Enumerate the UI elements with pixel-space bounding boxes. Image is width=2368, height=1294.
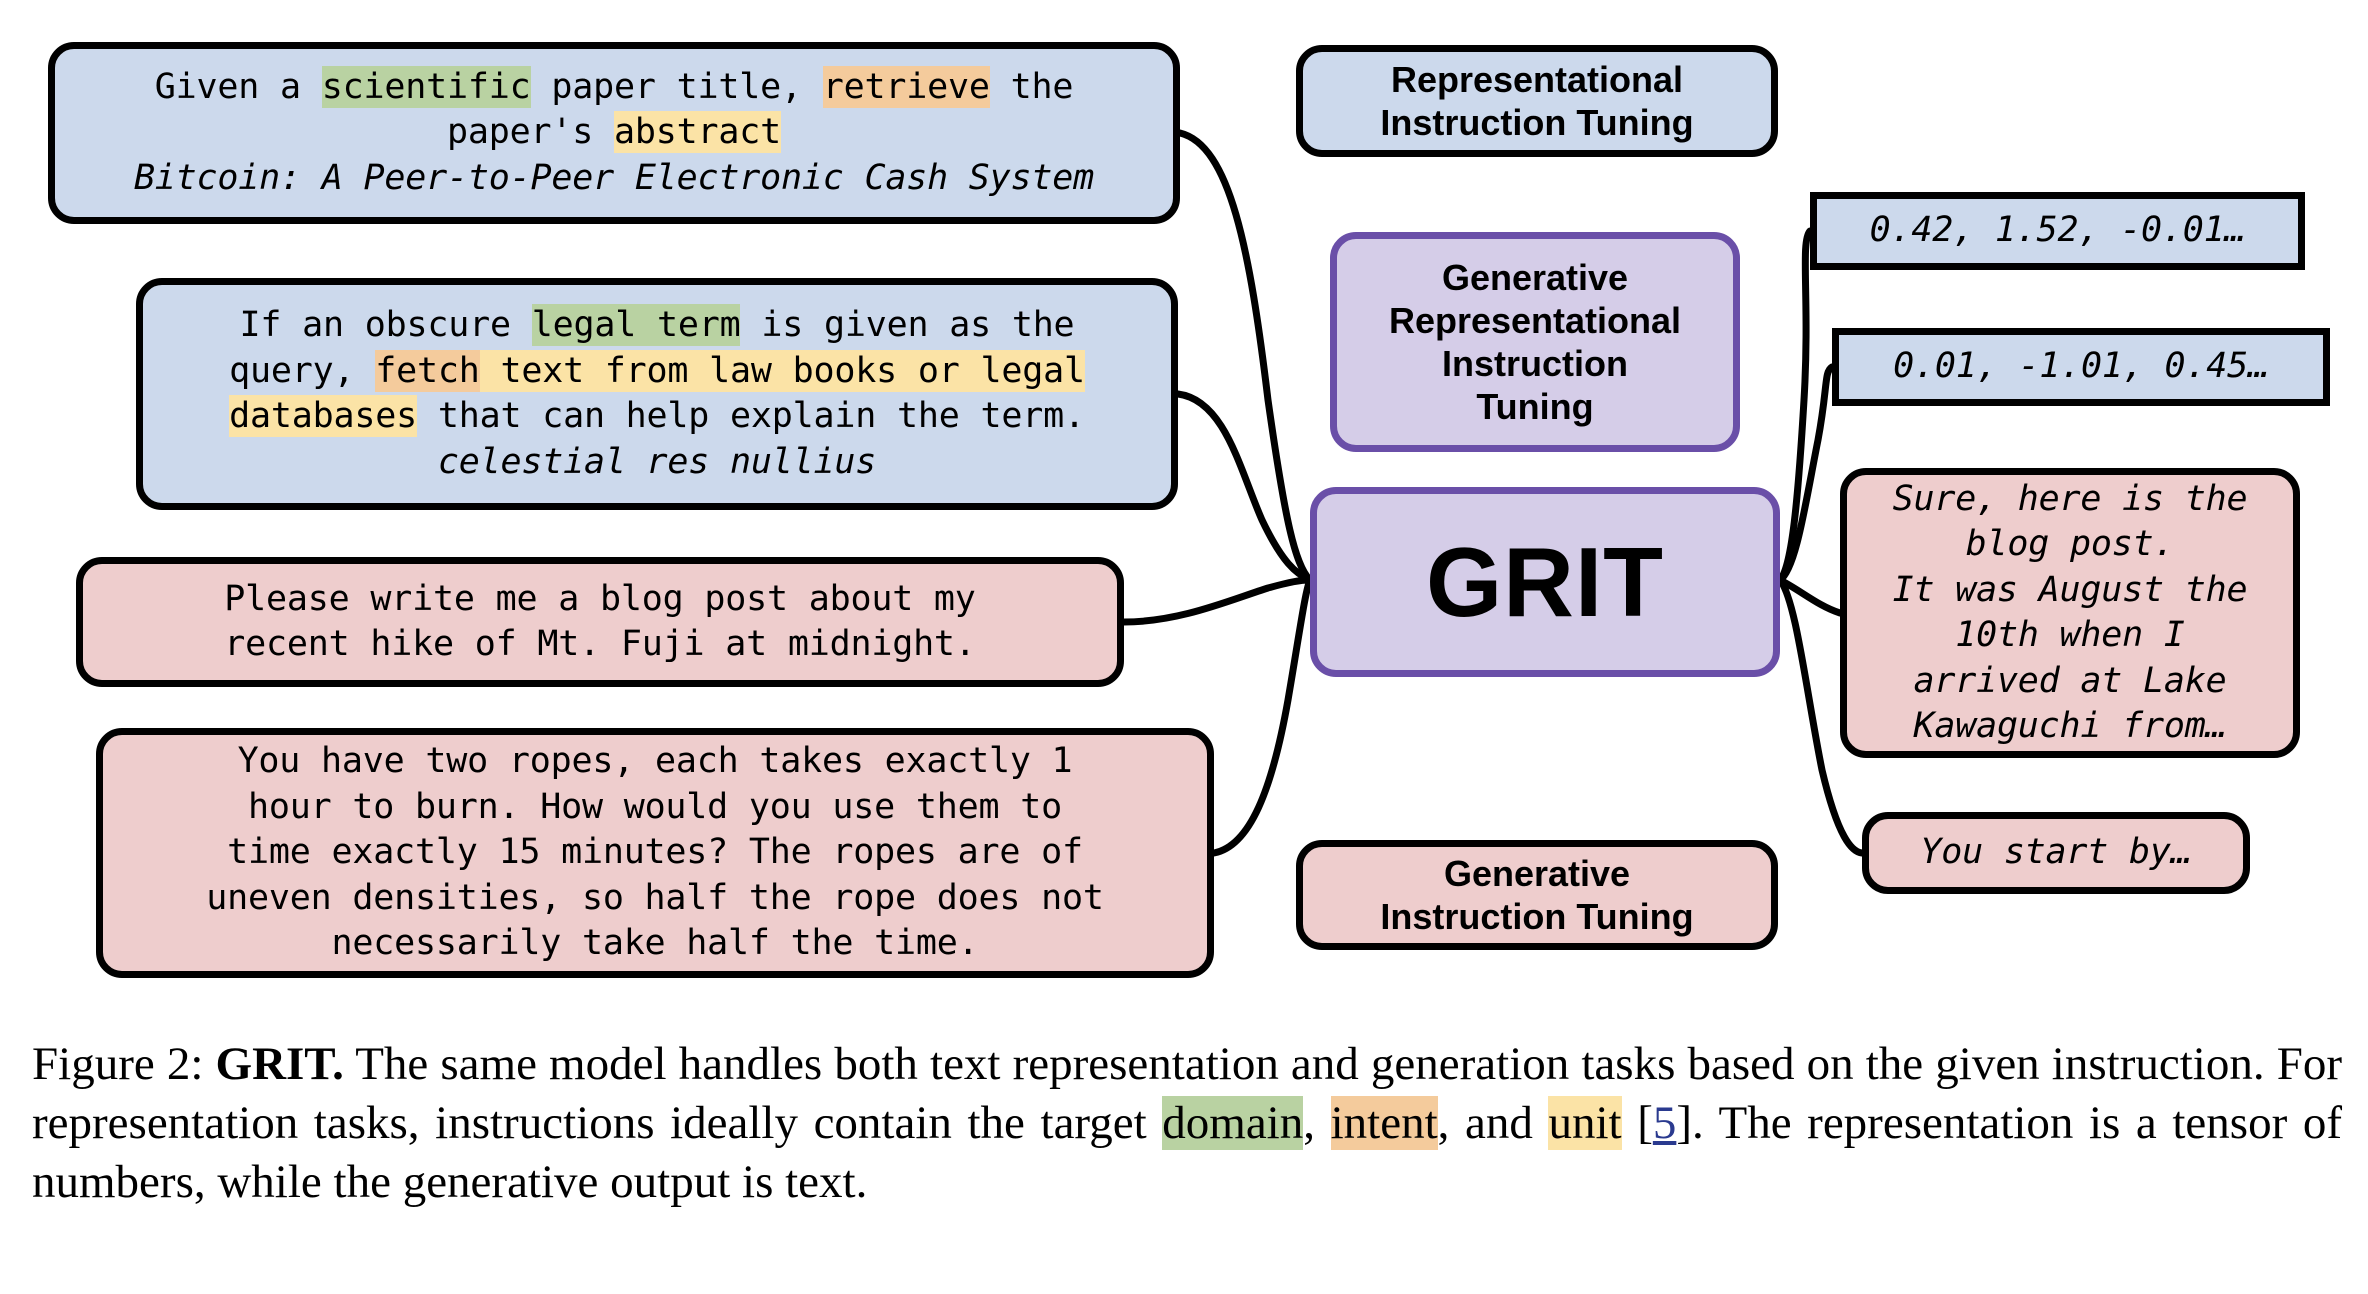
- unit-highlight: text from law books or legal: [480, 350, 1085, 392]
- query-text: celestial res nullius: [438, 442, 876, 482]
- grit-title: GRIT: [1317, 533, 1773, 631]
- domain-highlight: legal term: [532, 304, 741, 346]
- label-text: Generative Instruction Tuning: [1303, 852, 1771, 938]
- edge-grit-to-embedding2: [1780, 367, 1832, 580]
- grit-model-box: GRIT: [1310, 487, 1780, 677]
- generative-representational-instruction-tuning-label: Generative Representational Instruction …: [1330, 232, 1740, 452]
- representation-instruction-2: If an obscure legal term is given as the…: [136, 278, 1178, 510]
- embedding-output-1: 0.42, 1.52, -0.01…: [1810, 192, 2305, 270]
- edge-input2-to-grit: [1178, 394, 1310, 580]
- generative-instruction-1: Please write me a blog post about my rec…: [76, 557, 1124, 687]
- embedding-text: 0.01, -1.01, 0.45…: [1839, 344, 2323, 390]
- query-text: Bitcoin: A Peer-to-Peer Electronic Cash …: [134, 158, 1094, 198]
- caption-sep1: ,: [1303, 1097, 1330, 1149]
- embedding-output-2: 0.01, -1.01, 0.45…: [1832, 328, 2330, 406]
- label-text: Generative Representational Instruction …: [1337, 256, 1733, 429]
- unit-highlight: databases: [229, 395, 417, 437]
- edge-input4-to-grit: [1214, 580, 1310, 853]
- domain-highlight: scientific: [322, 66, 531, 108]
- representation-instruction-1: Given a scientific paper title, retrieve…: [48, 42, 1180, 224]
- citation-link-5[interactable]: 5: [1653, 1097, 1677, 1149]
- embedding-text: 0.42, 1.52, -0.01…: [1817, 208, 2298, 254]
- caption-title: GRIT.: [216, 1038, 344, 1090]
- generation-output-2: You start by…: [1862, 812, 2250, 894]
- generation-text: You start by…: [1869, 830, 2243, 876]
- instruction-text: You have two ropes, each takes exactly 1…: [103, 739, 1207, 967]
- caption-cite-open: [: [1622, 1097, 1653, 1149]
- representational-instruction-tuning-label: Representational Instruction Tuning: [1296, 45, 1778, 157]
- edge-grit-to-embedding1: [1780, 231, 1810, 580]
- intent-highlight: retrieve: [823, 66, 990, 108]
- caption-figure-number: Figure 2:: [32, 1038, 203, 1090]
- instruction-text: Please write me a blog post about my rec…: [83, 577, 1117, 668]
- label-text: Representational Instruction Tuning: [1303, 58, 1771, 144]
- edge-grit-to-generation1: [1780, 580, 1840, 613]
- intent-highlight: fetch: [375, 350, 479, 392]
- generation-output-1: Sure, here is the blog post. It was Augu…: [1840, 468, 2300, 758]
- unit-highlight: abstract: [614, 111, 781, 153]
- figure-caption: Figure 2: GRIT. The same model handles b…: [32, 1035, 2342, 1213]
- edge-input1-to-grit: [1180, 133, 1310, 580]
- caption-sep2: , and: [1438, 1097, 1549, 1149]
- edge-input3-to-grit: [1124, 580, 1310, 622]
- generative-instruction-2: You have two ropes, each takes exactly 1…: [96, 728, 1214, 978]
- caption-cite-close: ].: [1676, 1097, 1718, 1149]
- generation-text: Sure, here is the blog post. It was Augu…: [1847, 477, 2293, 750]
- caption-intent-highlight: intent: [1331, 1096, 1438, 1150]
- caption-unit-highlight: unit: [1548, 1096, 1621, 1150]
- instruction-text: Given a scientific paper title, retrieve…: [55, 65, 1173, 202]
- caption-domain-highlight: domain: [1162, 1096, 1303, 1150]
- generative-instruction-tuning-label: Generative Instruction Tuning: [1296, 840, 1778, 950]
- instruction-text: If an obscure legal term is given as the…: [143, 303, 1171, 485]
